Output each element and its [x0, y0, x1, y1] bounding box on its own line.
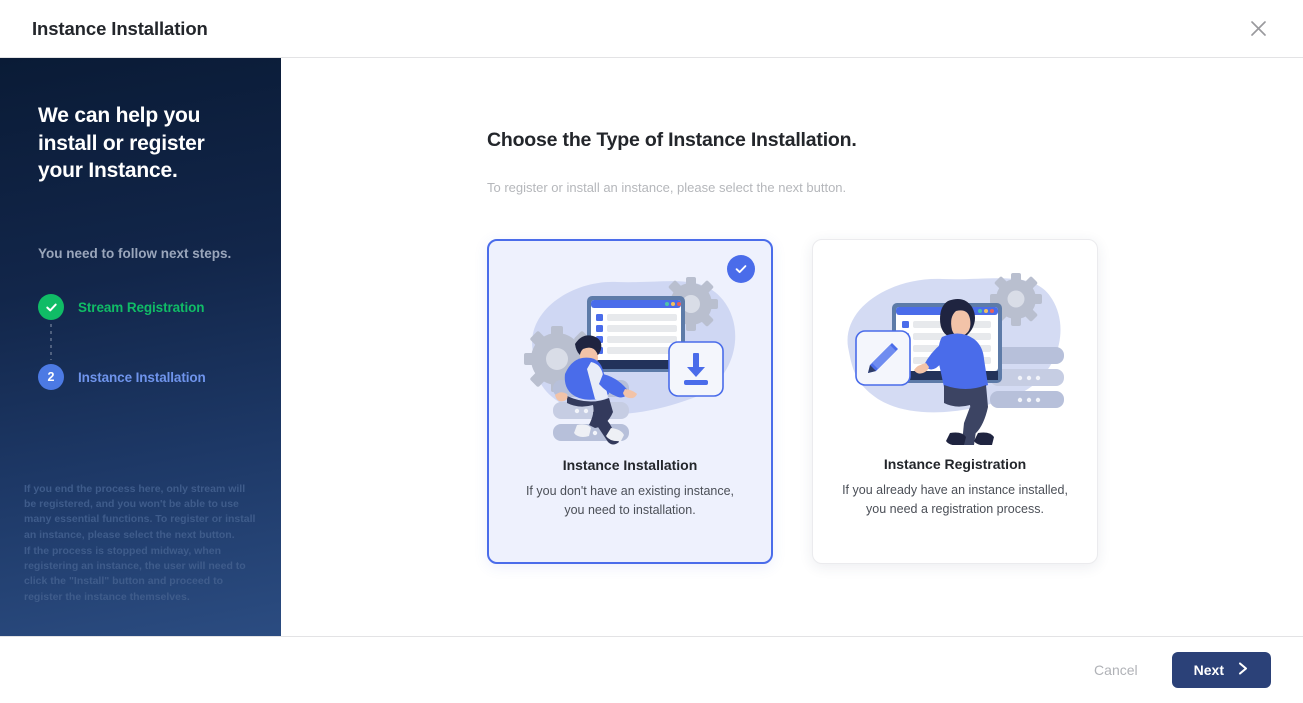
- sidebar-note-1: If you end the process here, only stream…: [24, 482, 256, 543]
- sidebar-item-instance-installation[interactable]: 2 Instance Installation: [38, 364, 258, 390]
- dialog-header: Instance Installation: [0, 0, 1303, 58]
- close-icon[interactable]: [1243, 14, 1273, 44]
- step-connector-dotted-line: [50, 324, 52, 360]
- cancel-button[interactable]: Cancel: [1094, 662, 1138, 678]
- installation-type-options: Instance Installation If you don't have …: [487, 239, 1098, 564]
- wizard-sidebar: We can help you install or register your…: [0, 58, 281, 636]
- page-title: Instance Installation: [32, 18, 208, 40]
- next-button[interactable]: Next: [1172, 652, 1271, 688]
- illustration-instance-installation: [489, 251, 771, 451]
- dialog-footer: Cancel Next: [0, 636, 1303, 703]
- sidebar-item-stream-registration[interactable]: Stream Registration: [38, 294, 258, 320]
- sidebar-item-label: Instance Installation: [78, 370, 206, 385]
- step-number: 2: [48, 370, 55, 384]
- instance-installation-dialog: Instance Installation We can help you in…: [0, 0, 1303, 703]
- main-title: Choose the Type of Instance Installation…: [487, 129, 857, 152]
- option-card-description: If you don't have an existing instance, …: [489, 482, 771, 520]
- option-card-title: Instance Installation: [489, 457, 771, 473]
- sidebar-item-label: Stream Registration: [78, 300, 204, 315]
- chevron-right-icon: [1238, 662, 1249, 678]
- step-number-badge: 2: [38, 364, 64, 390]
- main-subtitle: To register or install an instance, plea…: [487, 180, 846, 195]
- next-button-label: Next: [1194, 662, 1224, 678]
- wizard-steps: Stream Registration 2 Instance Installat…: [38, 294, 258, 390]
- sidebar-subheading: You need to follow next steps.: [38, 246, 231, 261]
- sidebar-note-2: If the process is stopped midway, when r…: [24, 544, 256, 605]
- step-complete-check-icon: [38, 294, 64, 320]
- main-content: Choose the Type of Instance Installation…: [281, 58, 1303, 636]
- option-card-title: Instance Registration: [813, 456, 1097, 472]
- sidebar-heading: We can help you install or register your…: [38, 102, 253, 185]
- option-card-description: If you already have an instance installe…: [813, 481, 1097, 519]
- option-card-instance-installation[interactable]: Instance Installation If you don't have …: [487, 239, 773, 564]
- illustration-instance-registration: [813, 250, 1097, 450]
- option-card-instance-registration[interactable]: Instance Registration If you already hav…: [812, 239, 1098, 564]
